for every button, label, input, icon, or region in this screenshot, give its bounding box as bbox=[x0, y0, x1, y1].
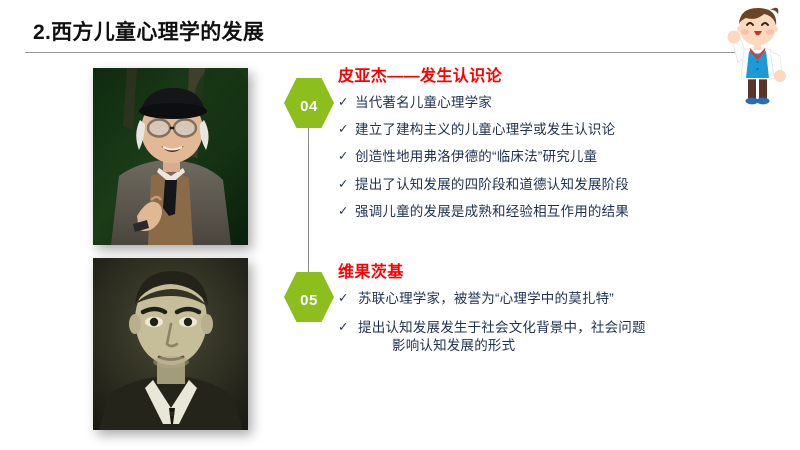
list-item: ✓ 强调儿童的发展是成熟和经验相互作用的结果 bbox=[338, 203, 758, 221]
bullet-text: 提出认知发展发生于社会文化背景中，社会问题 bbox=[358, 320, 646, 335]
check-icon: ✓ bbox=[338, 319, 358, 336]
bullet-text: 建立了建构主义的儿童心理学或发生认识论 bbox=[355, 121, 758, 139]
bullet-text-continuation: 影响认知发展的形式 bbox=[358, 337, 758, 355]
check-icon: ✓ bbox=[338, 121, 355, 138]
section-block-05: 维果茨基 ✓ 苏联心理学家，被誉为“心理学中的莫扎特” ✓ 提出认知发展发生于社… bbox=[338, 258, 758, 367]
title-divider bbox=[25, 52, 761, 53]
section-05-heading: 维果茨基 bbox=[338, 258, 758, 282]
bullet-text: 当代著名儿童心理学家 bbox=[355, 94, 758, 112]
list-item: ✓ 建立了建构主义的儿童心理学或发生认识论 bbox=[338, 121, 758, 139]
list-item: ✓ 提出了认知发展的四阶段和道德认知发展阶段 bbox=[338, 176, 758, 194]
photo-piaget bbox=[93, 68, 248, 245]
section-block-04: 皮亚杰——发生认识论 ✓ 当代著名儿童心理学家 ✓ 建立了建构主义的儿童心理学或… bbox=[338, 62, 758, 230]
badge-05-number: 05 bbox=[300, 286, 318, 308]
bullet-text-wrap: 提出认知发展发生于社会文化背景中，社会问题 影响认知发展的形式 bbox=[358, 319, 758, 355]
bullet-text: 苏联心理学家，被誉为“心理学中的莫扎特” bbox=[358, 290, 758, 308]
timeline-connector bbox=[308, 120, 309, 280]
section-05-bullet-list: ✓ 苏联心理学家，被誉为“心理学中的莫扎特” ✓ 提出认知发展发生于社会文化背景… bbox=[338, 290, 758, 356]
badge-04[interactable]: 04 bbox=[284, 78, 334, 128]
check-icon: ✓ bbox=[338, 94, 355, 111]
slide-canvas: 2.西方儿童心理学的发展 bbox=[0, 0, 800, 450]
page-title: 2.西方儿童心理学的发展 bbox=[33, 16, 264, 46]
list-item: ✓ 提出认知发展发生于社会文化背景中，社会问题 影响认知发展的形式 bbox=[338, 319, 758, 355]
badge-05[interactable]: 05 bbox=[284, 272, 334, 322]
bullet-text: 创造性地用弗洛伊德的“临床法”研究儿童 bbox=[355, 148, 758, 166]
section-04-bullet-list: ✓ 当代著名儿童心理学家 ✓ 建立了建构主义的儿童心理学或发生认识论 ✓ 创造性… bbox=[338, 94, 758, 221]
list-item: ✓ 苏联心理学家，被誉为“心理学中的莫扎特” bbox=[338, 290, 758, 308]
section-04-heading: 皮亚杰——发生认识论 bbox=[338, 62, 758, 86]
photo-vygotsky bbox=[93, 258, 248, 430]
check-icon: ✓ bbox=[338, 176, 355, 193]
check-icon: ✓ bbox=[338, 203, 355, 220]
badge-04-number: 04 bbox=[300, 92, 318, 114]
bullet-text: 强调儿童的发展是成熟和经验相互作用的结果 bbox=[355, 203, 758, 221]
bullet-text: 提出了认知发展的四阶段和道德认知发展阶段 bbox=[355, 176, 758, 194]
check-icon: ✓ bbox=[338, 148, 355, 165]
check-icon: ✓ bbox=[338, 290, 358, 307]
list-item: ✓ 创造性地用弗洛伊德的“临床法”研究儿童 bbox=[338, 148, 758, 166]
list-item: ✓ 当代著名儿童心理学家 bbox=[338, 94, 758, 112]
